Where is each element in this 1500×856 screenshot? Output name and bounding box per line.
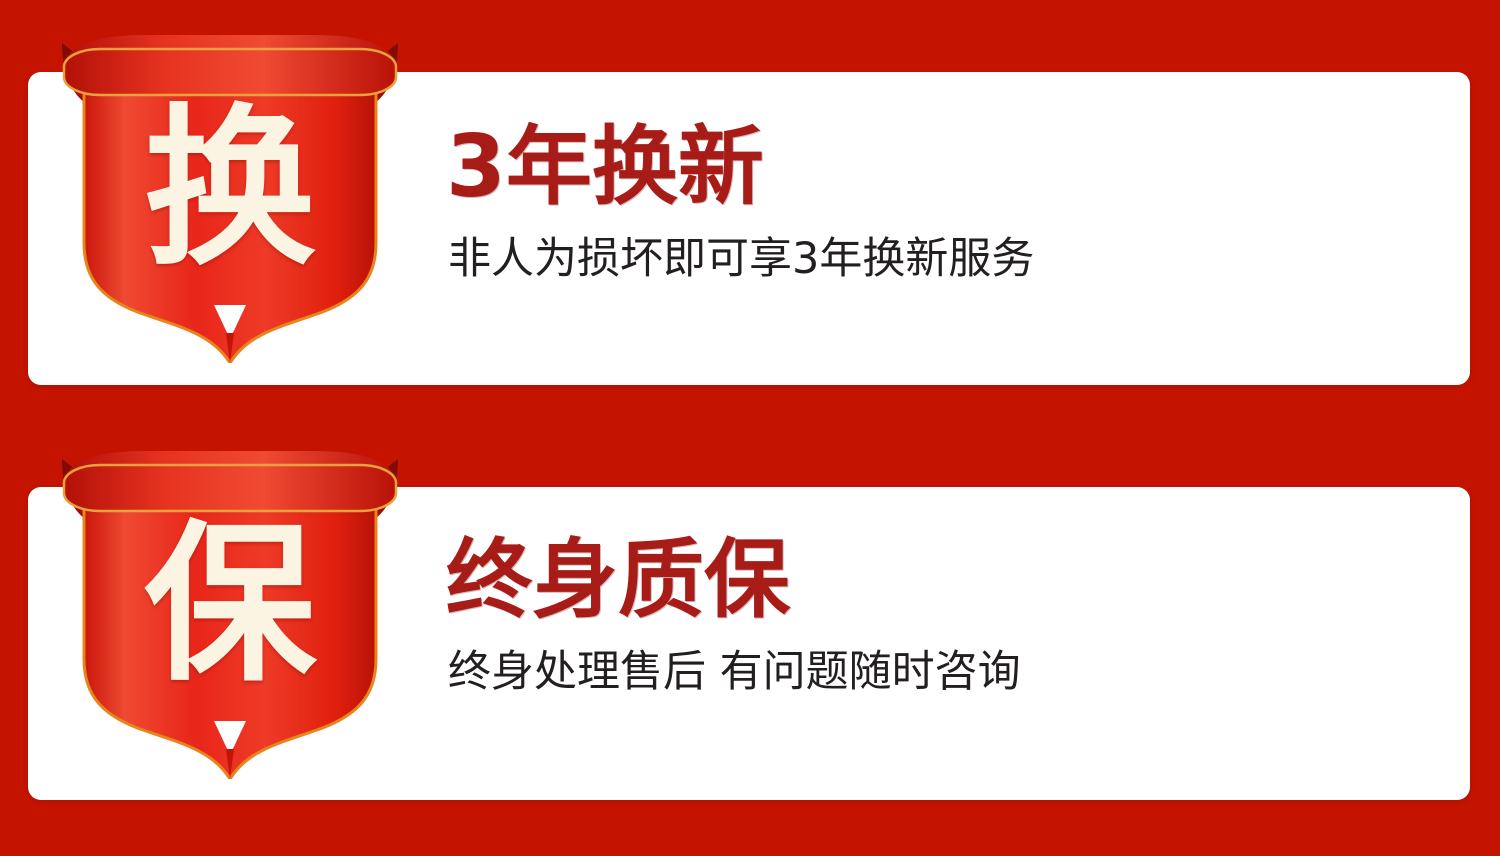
ribbon-shield-exchange-icon: 换	[56, 33, 404, 363]
page-title: 3年换新	[446, 122, 1406, 212]
guarantee-text-block: 终身质保 终身处理售后 有问题随时咨询	[446, 535, 1406, 699]
badge-glyph: 换	[56, 33, 404, 319]
page-title: 终身质保	[446, 535, 1406, 625]
badge-glyph: 保	[56, 449, 404, 735]
page-subtitle: 非人为损坏即可享3年换新服务	[448, 234, 1406, 286]
guarantee-text-block: 3年换新 非人为损坏即可享3年换新服务	[446, 122, 1406, 286]
promo-banner: 换 3年换新 非人为损坏即可享3年换新服务	[0, 0, 1500, 856]
ribbon-shield-warranty-icon: 保	[56, 449, 404, 779]
page-subtitle: 终身处理售后 有问题随时咨询	[448, 647, 1406, 699]
